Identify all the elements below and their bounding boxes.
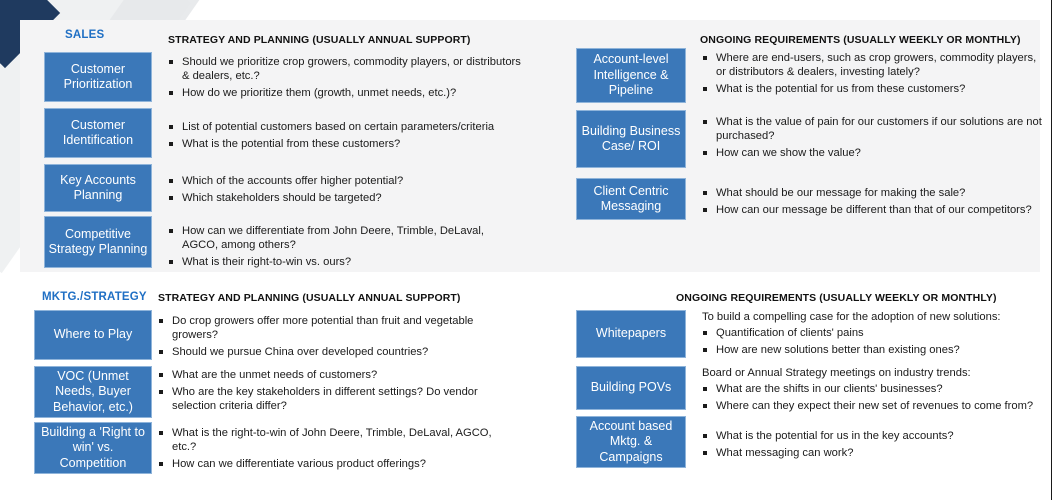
column-header-strategy-planning: STRATEGY AND PLANNING (USUALLY ANNUAL SU… (168, 34, 471, 46)
bullet-item: List of potential customers based on cer… (168, 120, 523, 134)
chip-voc-unmet-needs[interactable]: VOC (Unmet Needs, Buyer Behavior, etc.) (34, 366, 152, 418)
column-header-ongoing-requirements: ONGOING REQUIREMENTS (USUALLY WEEKLY OR … (700, 34, 1021, 46)
bullet-item: What messaging can work? (702, 446, 1047, 460)
chip-account-level-intelligence-pipeline[interactable]: Account-level Intelligence & Pipeline (576, 48, 686, 103)
bullets-key-accounts-planning: Which of the accounts offer higher poten… (168, 174, 523, 208)
marketing-strategy-section-panel: MKTG./STRATEGY STRATEGY AND PLANNING (US… (20, 282, 1040, 480)
right-frame-border (1051, 0, 1052, 500)
chip-building-business-case-roi[interactable]: Building Business Case/ ROI (576, 110, 686, 168)
bullets-client-centric-messaging: What should be our message for making th… (702, 186, 1047, 220)
sales-strategy-column: STRATEGY AND PLANNING (USUALLY ANNUAL SU… (20, 20, 530, 272)
chip-client-centric-messaging[interactable]: Client Centric Messaging (576, 178, 686, 220)
bullet-item: What is the right-to-win of John Deere, … (158, 426, 508, 454)
bullet-item: What is the potential for us in the key … (702, 429, 1047, 443)
chip-account-based-mktg-campaigns[interactable]: Account based Mktg. & Campaigns (576, 416, 686, 468)
bullet-item: Should we pursue China over developed co… (158, 345, 488, 359)
bullet-item: How can our message be different than th… (702, 203, 1047, 217)
bullet-item: What are the unmet needs of customers? (158, 368, 488, 382)
chip-whitepapers[interactable]: Whitepapers (576, 310, 686, 358)
bullets-building-business-case: What is the value of pain for our custom… (702, 115, 1047, 163)
bullets-customer-prioritization: Should we prioritize crop growers, commo… (168, 55, 523, 103)
column-header-ongoing-requirements: ONGOING REQUIREMENTS (USUALLY WEEKLY OR … (676, 292, 997, 304)
bullet-item: Where can they expect their new set of r… (702, 399, 1047, 413)
bullets-customer-identification: List of potential customers based on cer… (168, 120, 523, 154)
bullet-item: How are new solutions better than existi… (702, 343, 1042, 357)
bullet-item: What is the potential from these custome… (168, 137, 523, 151)
bullet-item: How do we prioritize them (growth, unmet… (168, 86, 523, 100)
mktg-strategy-column: STRATEGY AND PLANNING (USUALLY ANNUAL SU… (20, 282, 530, 480)
chip-building-right-to-win[interactable]: Building a 'Right to win' vs. Competitio… (34, 422, 152, 474)
chip-customer-prioritization[interactable]: Customer Prioritization (44, 52, 152, 102)
chip-competitive-strategy-planning[interactable]: Competitive Strategy Planning (44, 216, 152, 268)
chip-where-to-play[interactable]: Where to Play (34, 310, 152, 360)
chip-customer-identification[interactable]: Customer Identification (44, 108, 152, 158)
bullet-item: Should we prioritize crop growers, commo… (168, 55, 523, 83)
chip-key-accounts-planning[interactable]: Key Accounts Planning (44, 164, 152, 212)
bullets-building-povs: Board or Annual Strategy meetings on ind… (702, 366, 1047, 416)
chip-building-povs[interactable]: Building POVs (576, 366, 686, 410)
sales-ongoing-column: ONGOING REQUIREMENTS (USUALLY WEEKLY OR … (550, 20, 1040, 272)
bullet-item: What are the shifts in our clients' busi… (702, 382, 1047, 396)
bullet-item: Which of the accounts offer higher poten… (168, 174, 523, 188)
bullets-competitive-strategy-planning: How can we differentiate from John Deere… (168, 224, 508, 272)
bullet-item: What should be our message for making th… (702, 186, 1047, 200)
bullet-item: Which stakeholders should be targeted? (168, 191, 523, 205)
bullets-lead-text: Board or Annual Strategy meetings on ind… (702, 366, 1047, 380)
sales-section-panel: SALES STRATEGY AND PLANNING (USUALLY ANN… (20, 20, 1040, 272)
bullet-item: Quantification of clients' pains (702, 326, 1042, 340)
mktg-ongoing-column: ONGOING REQUIREMENTS (USUALLY WEEKLY OR … (550, 282, 1040, 480)
bullet-item: What is the value of pain for our custom… (702, 115, 1047, 143)
bullet-item: Where are end-users, such as crop grower… (702, 51, 1037, 79)
bullets-where-to-play: Do crop growers offer more potential tha… (158, 314, 488, 362)
bullet-item: How can we differentiate from John Deere… (168, 224, 508, 252)
bullets-whitepapers: To build a compelling case for the adopt… (702, 310, 1042, 360)
bullets-building-right-to-win: What is the right-to-win of John Deere, … (158, 426, 508, 474)
bullet-item: Who are the key stakeholders in differen… (158, 385, 488, 413)
bullets-account-based-mktg: What is the potential for us in the key … (702, 429, 1047, 463)
column-header-strategy-planning: STRATEGY AND PLANNING (USUALLY ANNUAL SU… (158, 292, 461, 304)
bullet-item: How can we differentiate various product… (158, 457, 508, 471)
bullet-item: How can we show the value? (702, 146, 1047, 160)
bullets-lead-text: To build a compelling case for the adopt… (702, 310, 1042, 324)
bullet-item: What is the potential for us from these … (702, 82, 1037, 96)
bullet-item: What is their right-to-win vs. ours? (168, 255, 508, 269)
bullet-item: Do crop growers offer more potential tha… (158, 314, 488, 342)
bullets-account-level-intelligence: Where are end-users, such as crop grower… (702, 51, 1037, 99)
bullets-voc: What are the unmet needs of customers? W… (158, 368, 488, 416)
